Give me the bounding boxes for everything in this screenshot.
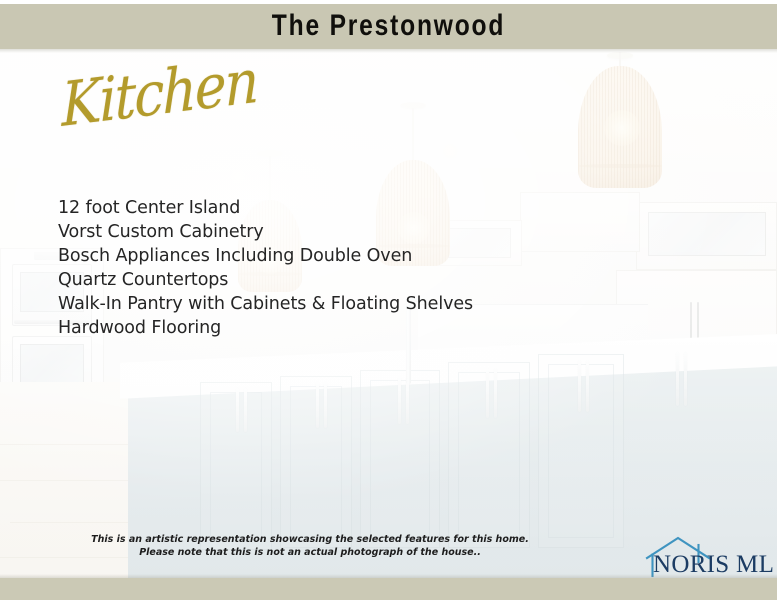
disclaimer-line-2: Please note that this is not an actual p… <box>0 546 620 559</box>
feature-item: Walk-In Pantry with Cabinets & Floating … <box>58 292 618 316</box>
listing-flyer: The Prestonwood Kitchen 12 foot Center I… <box>0 0 777 600</box>
text-overlay: Kitchen 12 foot Center Island Vorst Cust… <box>0 0 777 600</box>
header-banner: The Prestonwood <box>0 4 777 49</box>
feature-item: Hardwood Flooring <box>58 316 618 340</box>
footer-banner <box>0 578 777 600</box>
disclaimer-line-1: This is an artistic representation showc… <box>0 533 620 546</box>
header-banner-shadow <box>0 49 777 53</box>
feature-list: 12 foot Center Island Vorst Custom Cabin… <box>58 196 618 340</box>
feature-item: Quartz Countertops <box>58 268 618 292</box>
footer-banner-shadow <box>0 574 777 578</box>
feature-item: 12 foot Center Island <box>58 196 618 220</box>
room-title: Kitchen <box>61 51 258 136</box>
disclaimer-text: This is an artistic representation showc… <box>0 533 620 559</box>
feature-item: Bosch Appliances Including Double Oven <box>58 244 618 268</box>
feature-item: Vorst Custom Cabinetry <box>58 220 618 244</box>
page-title: The Prestonwood <box>70 9 707 43</box>
